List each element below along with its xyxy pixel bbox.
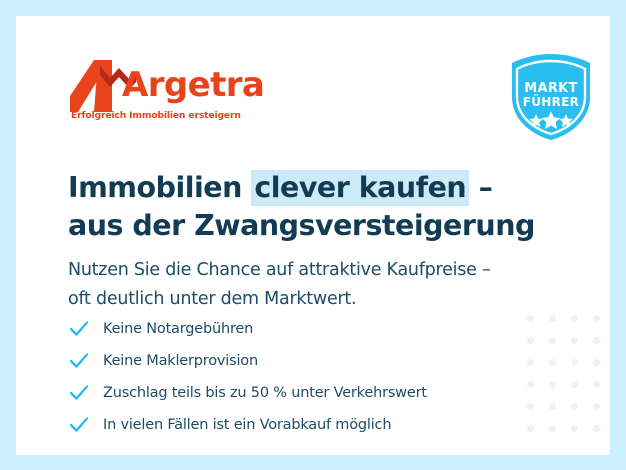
page-frame: Argetra Erfolgreich Immobilien ersteiger… [0, 0, 626, 470]
decorative-dot [571, 359, 578, 366]
decorative-dot [549, 381, 556, 388]
badge-line2: FÜHRER [523, 94, 579, 109]
page-subtitle: Nutzen Sie die Chance auf attraktive Kau… [68, 256, 588, 314]
decorative-dot [593, 337, 600, 344]
headline-highlight: clever kaufen [251, 170, 469, 206]
market-leader-badge: MARKT FÜHRER [506, 52, 596, 142]
decorative-dot [549, 359, 556, 366]
headline-text-before: Immobilien [68, 171, 251, 204]
decorative-dot [571, 381, 578, 388]
list-item-label: Keine Maklerprovision [103, 353, 258, 369]
check-icon [69, 416, 89, 434]
decorative-dot [549, 337, 556, 344]
decorative-dot [571, 425, 578, 432]
list-item: Keine Notargebühren [69, 313, 539, 345]
decorative-dot [571, 403, 578, 410]
dot-grid-decoration [527, 315, 610, 443]
list-item-label: Zuschlag teils bis zu 50 % unter Verkehr… [103, 385, 427, 401]
logo-tagline: Erfolgreich Immobilien ersteigern [71, 110, 241, 121]
list-item: Zuschlag teils bis zu 50 % unter Verkehr… [69, 377, 539, 409]
list-item: In vielen Fällen ist ein Vorabkauf mögli… [69, 409, 539, 441]
page-title: Immobilien clever kaufen – aus der Zwang… [68, 169, 568, 245]
promo-card: Argetra Erfolgreich Immobilien ersteiger… [16, 16, 610, 455]
badge-line1: MARKT [524, 81, 577, 96]
decorative-dot [549, 403, 556, 410]
decorative-dot [593, 403, 600, 410]
argetra-logo[interactable]: Argetra Erfolgreich Immobilien ersteiger… [70, 60, 270, 126]
check-icon [69, 384, 89, 402]
decorative-dot [593, 425, 600, 432]
headline-line-1: Immobilien clever kaufen – [68, 169, 568, 207]
decorative-dot [571, 337, 578, 344]
headline-line-2: aus der Zwangsversteigerung [68, 207, 568, 245]
decorative-dot [571, 315, 578, 322]
decorative-dot [593, 359, 600, 366]
list-item: Keine Maklerprovision [69, 345, 539, 377]
benefits-list: Keine Notargebühren Keine Maklerprovisio… [69, 313, 539, 441]
headline-text-after: – [469, 171, 492, 204]
decorative-dot [549, 315, 556, 322]
decorative-dot [549, 425, 556, 432]
subtitle-line-2: oft deutlich unter dem Marktwert. [68, 285, 588, 314]
decorative-dot [593, 381, 600, 388]
list-item-label: Keine Notargebühren [103, 321, 253, 337]
check-icon [69, 320, 89, 338]
check-icon [69, 352, 89, 370]
subtitle-line-1: Nutzen Sie die Chance auf attraktive Kau… [68, 256, 588, 285]
decorative-dot [593, 315, 600, 322]
list-item-label: In vielen Fällen ist ein Vorabkauf mögli… [103, 417, 391, 433]
logo-wordmark: Argetra [122, 68, 264, 102]
